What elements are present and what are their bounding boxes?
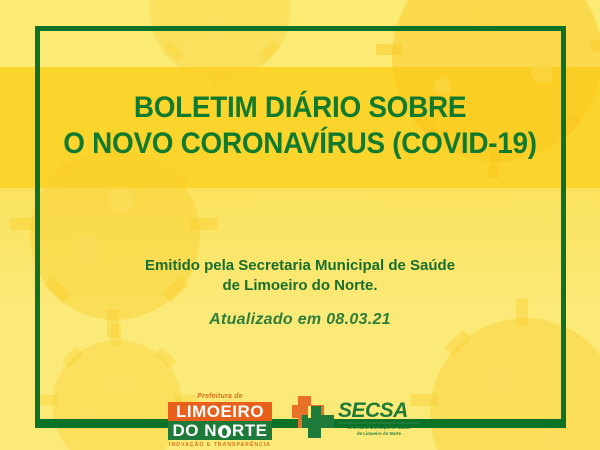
limoeiro-name-line-2-part-b: RTE	[232, 421, 268, 440]
page-title: BOLETIM DIÁRIO SOBRE O NOVO CORONAVÍRUS …	[21, 90, 579, 162]
covid-bulletin-poster: BOLETIM DIÁRIO SOBRE O NOVO CORONAVÍRUS …	[0, 0, 600, 450]
issuer-line-2: de Limoeiro do Norte.	[0, 276, 600, 296]
secsa-subtitle-line-2: de Limoeiro do Norte	[338, 431, 420, 437]
limoeiro-tagline: INOVAÇÃO E TRANSPARÊNCIA	[168, 441, 272, 449]
issuer-line-1: Emitido pela Secretaria Municipal de Saú…	[0, 256, 600, 276]
issuer-text: Emitido pela Secretaria Municipal de Saú…	[0, 256, 600, 296]
limoeiro-name-line-1: LIMOEIRO	[168, 402, 272, 421]
limoeiro-prefix-text: Prefeitura de	[168, 392, 272, 401]
secsa-subtitle-line-1: Secretaria Municipal de Saúde	[338, 425, 420, 431]
secsa-logo: SECSA Secretaria Municipal de Saúde de L…	[292, 392, 432, 440]
secsa-wordmark: SECSA Secretaria Municipal de Saúde de L…	[338, 400, 420, 436]
limoeiro-do-norte-logo: Prefeitura de LIMOEIRO DO N RTE INOVAÇÃO…	[168, 392, 272, 449]
logo-row: Prefeitura de LIMOEIRO DO N RTE INOVAÇÃO…	[0, 392, 600, 444]
limoeiro-o-mark-icon	[218, 425, 231, 438]
secsa-underline	[338, 422, 420, 424]
title-line-1: BOLETIM DIÁRIO SOBRE	[21, 90, 579, 126]
green-frame-border	[35, 26, 566, 424]
updated-date: Atualizado em 08.03.21	[0, 311, 600, 329]
secsa-acronym: SECSA	[338, 400, 420, 421]
title-line-2: O NOVO CORONAVÍRUS (COVID-19)	[21, 126, 579, 162]
secsa-cross-icon	[292, 396, 334, 438]
limoeiro-name-line-2: DO N RTE	[168, 421, 272, 440]
limoeiro-name-line-2-part-a: DO N	[173, 421, 218, 440]
